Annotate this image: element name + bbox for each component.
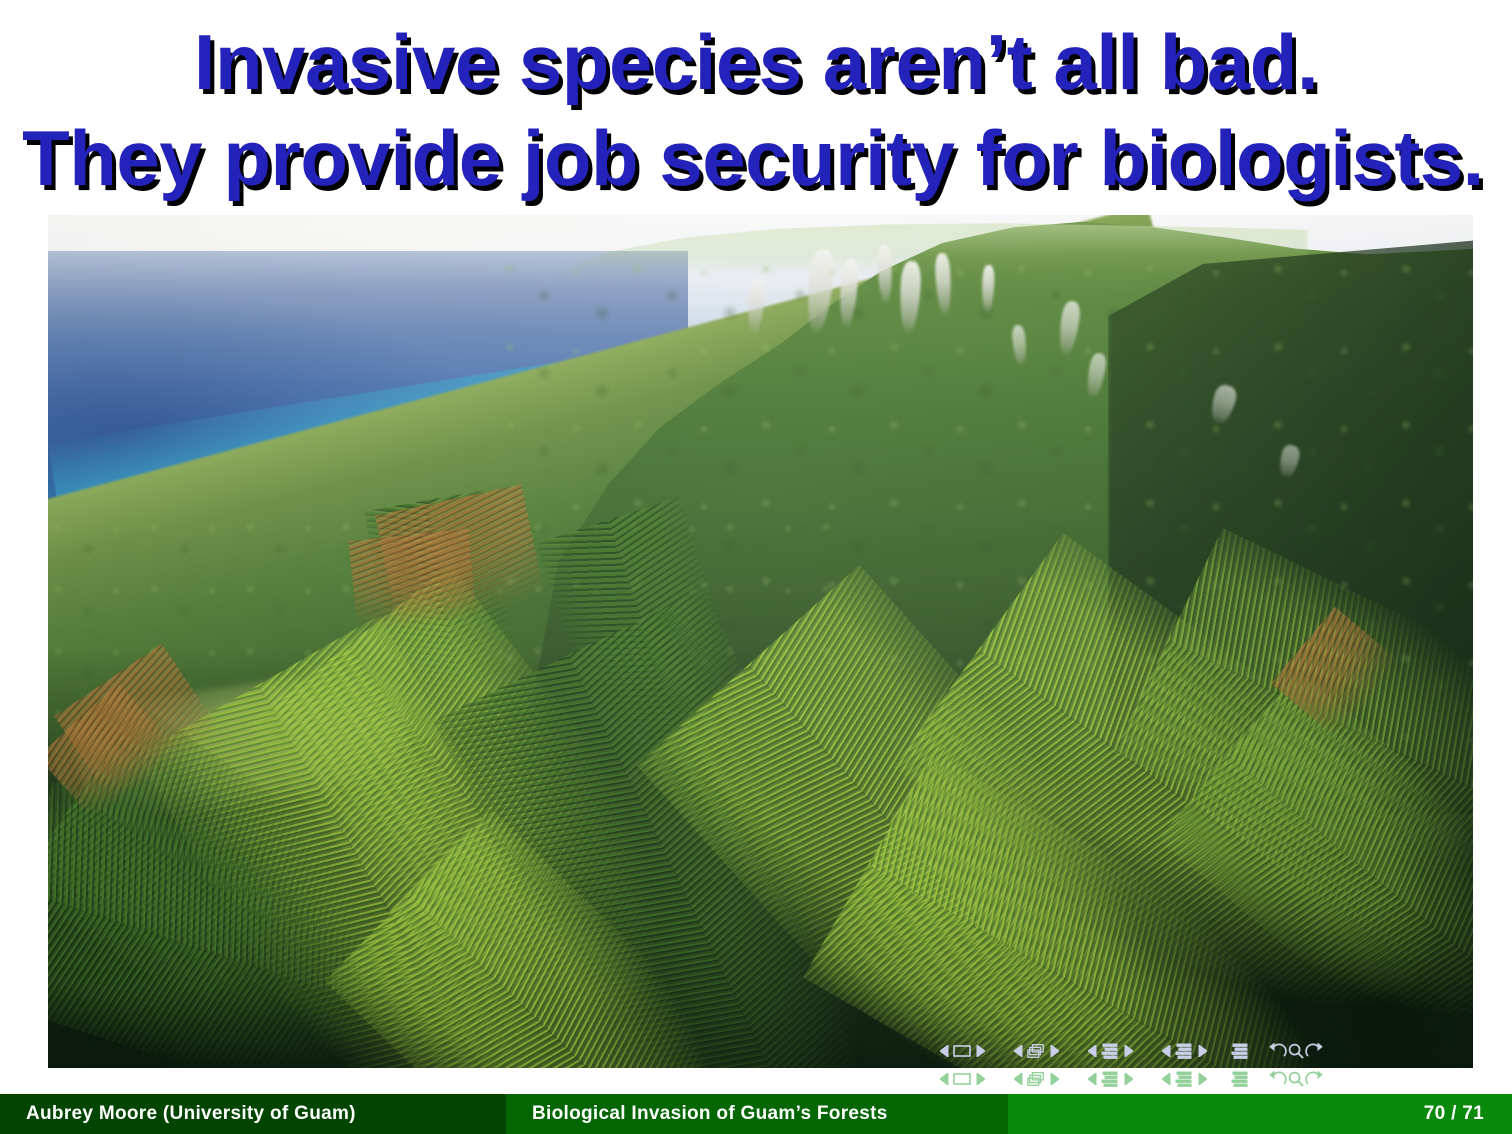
nav-group-history[interactable] [1269, 1038, 1323, 1064]
slide-previous-icon[interactable] [935, 1038, 953, 1064]
nav-group-section[interactable] [1157, 1038, 1211, 1064]
nav-separator [1211, 1051, 1231, 1052]
section-current-icon[interactable] [1175, 1066, 1193, 1092]
nav-echo-group-frame[interactable] [1009, 1066, 1063, 1092]
nav-echo-group-document[interactable] [1231, 1066, 1249, 1092]
search-icon[interactable] [1287, 1038, 1305, 1064]
frame-current-icon[interactable] [1027, 1066, 1045, 1092]
slide-title: Invasive species aren’t all bad. They pr… [0, 14, 1512, 206]
section-current-icon[interactable] [1175, 1038, 1193, 1064]
go-back-icon[interactable] [1269, 1066, 1287, 1092]
footer-presentation-title: Biological Invasion of Guam’s Forests [506, 1094, 1008, 1134]
footer-page-indicator: 70 / 71 [1008, 1094, 1512, 1134]
nav-separator [1137, 1051, 1157, 1052]
beamer-navigation-symbols[interactable] [935, 1034, 1323, 1068]
section-next-icon[interactable] [1193, 1038, 1211, 1064]
nav-group-document[interactable] [1231, 1038, 1249, 1064]
subsection-current-icon[interactable] [1101, 1038, 1119, 1064]
frame-next-icon[interactable] [1045, 1066, 1063, 1092]
nav-group-subsection[interactable] [1083, 1038, 1137, 1064]
frame-current-icon[interactable] [1027, 1038, 1045, 1064]
nav-separator [1249, 1051, 1269, 1052]
cycad-new-leaf [348, 529, 477, 636]
nav-separator [989, 1079, 1009, 1080]
nav-echo-group-slide[interactable] [935, 1066, 989, 1092]
slide-current-icon[interactable] [953, 1066, 971, 1092]
slide-next-icon[interactable] [971, 1038, 989, 1064]
document-icon[interactable] [1231, 1066, 1249, 1092]
nav-group-frame[interactable] [1009, 1038, 1063, 1064]
nav-group-slide[interactable] [935, 1038, 989, 1064]
nav-echo-group-section[interactable] [1157, 1066, 1211, 1092]
search-icon[interactable] [1287, 1066, 1305, 1092]
nav-separator [1211, 1079, 1231, 1080]
subsection-next-icon[interactable] [1119, 1038, 1137, 1064]
slide-current-icon[interactable] [953, 1038, 971, 1064]
beamer-slide: Invasive species aren’t all bad. They pr… [0, 0, 1512, 1134]
subsection-next-icon[interactable] [1119, 1066, 1137, 1092]
nav-separator [1137, 1079, 1157, 1080]
nav-separator [989, 1051, 1009, 1052]
subsection-previous-icon[interactable] [1083, 1066, 1101, 1092]
document-icon[interactable] [1231, 1038, 1249, 1064]
subsection-previous-icon[interactable] [1083, 1038, 1101, 1064]
section-previous-icon[interactable] [1157, 1066, 1175, 1092]
go-forward-icon[interactable] [1305, 1038, 1323, 1064]
section-next-icon[interactable] [1193, 1066, 1211, 1092]
frame-previous-icon[interactable] [1009, 1066, 1027, 1092]
section-previous-icon[interactable] [1157, 1038, 1175, 1064]
slide-footline: Aubrey Moore (University of Guam) Biolog… [0, 1094, 1512, 1134]
nav-separator [1249, 1079, 1269, 1080]
slide-next-icon[interactable] [971, 1066, 989, 1092]
slide-photograph [48, 215, 1473, 1068]
go-forward-icon[interactable] [1305, 1066, 1323, 1092]
slide-title-line-1: Invasive species aren’t all bad. [0, 14, 1512, 110]
frame-next-icon[interactable] [1045, 1038, 1063, 1064]
nav-separator [1063, 1079, 1083, 1080]
go-back-icon[interactable] [1269, 1038, 1287, 1064]
frame-previous-icon[interactable] [1009, 1038, 1027, 1064]
subsection-current-icon[interactable] [1101, 1066, 1119, 1092]
nav-echo-group-subsection[interactable] [1083, 1066, 1137, 1092]
slide-title-line-2: They provide job security for biologists… [0, 110, 1512, 206]
footer-author: Aubrey Moore (University of Guam) [0, 1094, 506, 1134]
nav-echo-group-history[interactable] [1269, 1066, 1323, 1092]
nav-separator [1063, 1051, 1083, 1052]
slide-previous-icon[interactable] [935, 1066, 953, 1092]
